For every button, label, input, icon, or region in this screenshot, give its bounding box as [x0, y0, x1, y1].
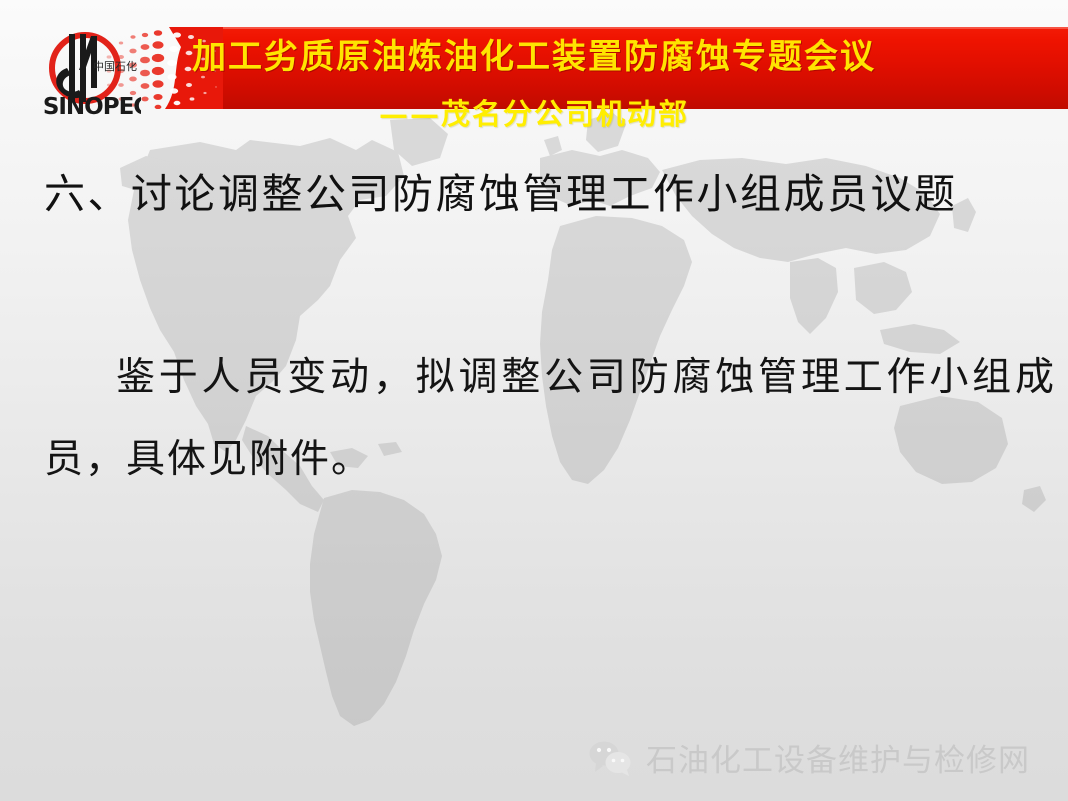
wechat-icon [588, 739, 634, 777]
presentation-slide: SINOPEC 中国石化 加工劣质原油炼油化工装置防腐蚀专题会议 ——茂名分公司… [0, 0, 1068, 801]
watermark-label: 石油化工设备维护与检修网 [646, 735, 1030, 780]
body-paragraph: 鉴于人员变动，拟调整公司防腐蚀管理工作小组成员，具体见附件。 [44, 337, 1056, 501]
meeting-title: 加工劣质原油炼油化工装置防腐蚀专题会议 [0, 40, 1068, 74]
meeting-subtitle: ——茂名分公司机动部 [0, 100, 1068, 129]
section-heading: 六、讨论调整公司防腐蚀管理工作小组成员议题 [44, 170, 1068, 219]
source-watermark: 石油化工设备维护与检修网 [588, 735, 1030, 780]
